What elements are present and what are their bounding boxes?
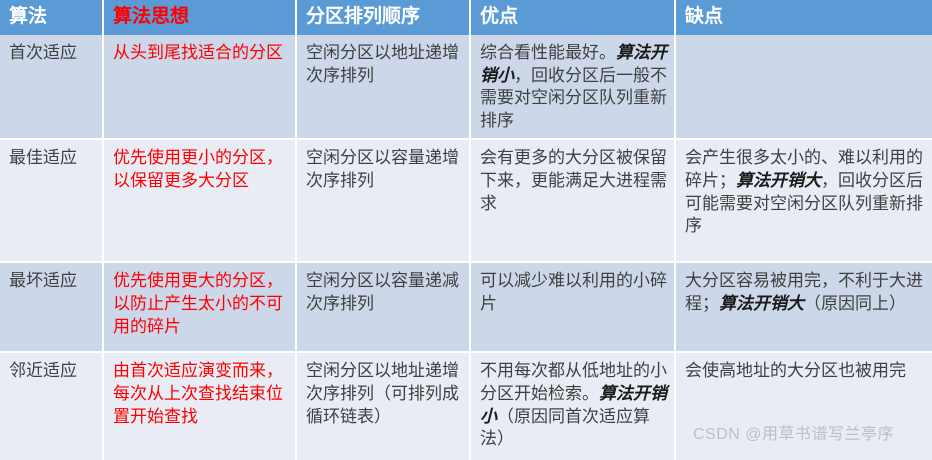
advantages-text-pre: 综合看性能最好。 (480, 43, 616, 62)
cell-algorithm: 首次适应 (0, 35, 103, 139)
cell-algorithm-idea: 优先使用更大的分区，以防止产生太小的不可用的碎片 (103, 262, 296, 352)
advantages-text-pre: 会有更多的大分区被保留下来，更能满足大进程需求 (480, 148, 667, 212)
column-header-algorithm-idea: 算法思想 (103, 0, 296, 35)
cell-algorithm-idea: 由首次适应演变而来，每次从上次查找结束位置开始查找 (103, 352, 296, 460)
advantages-text-post: （原因同首次适应算法） (480, 407, 650, 449)
column-header-partition-order: 分区排列顺序 (296, 0, 470, 35)
disadvantages-emphasis: 算法开销大 (719, 294, 804, 313)
cell-partition-order: 空闲分区以地址递增次序排列 (296, 35, 470, 139)
cell-advantages: 不用每次都从低地址的小分区开始检索。算法开销小（原因同首次适应算法） (470, 352, 675, 460)
disadvantages-text-pre: 会使高地址的大分区也被用完 (685, 361, 906, 380)
advantages-text-pre: 可以减少难以利用的小碎片 (480, 271, 667, 313)
cell-disadvantages: 大分区容易被用完，不利于大进程；算法开销大（原因同上） (675, 262, 932, 352)
algorithm-comparison-table: 算法 算法思想 分区排列顺序 优点 缺点 首次适应 从头到尾找适合的分区 空闲分… (0, 0, 932, 460)
cell-partition-order: 空闲分区以容量递减次序排列 (296, 262, 470, 352)
table-body: 首次适应 从头到尾找适合的分区 空闲分区以地址递增次序排列 综合看性能最好。算法… (0, 35, 932, 460)
table-row: 邻近适应 由首次适应演变而来，每次从上次查找结束位置开始查找 空闲分区以地址递增… (0, 352, 932, 460)
cell-advantages: 可以减少难以利用的小碎片 (470, 262, 675, 352)
cell-advantages: 会有更多的大分区被保留下来，更能满足大进程需求 (470, 139, 675, 262)
disadvantages-text-post: （原因同上） (804, 294, 906, 313)
table-row: 最坏适应 优先使用更大的分区，以防止产生太小的不可用的碎片 空闲分区以容量递减次… (0, 262, 932, 352)
cell-algorithm: 邻近适应 (0, 352, 103, 460)
cell-disadvantages (675, 35, 932, 139)
cell-disadvantages: 会使高地址的大分区也被用完 (675, 352, 932, 460)
cell-disadvantages: 会产生很多太小的、难以利用的碎片；算法开销大，回收分区后可能需要对空闲分区队列重… (675, 139, 932, 262)
column-header-algorithm: 算法 (0, 0, 103, 35)
cell-partition-order: 空闲分区以容量递增次序排列 (296, 139, 470, 262)
column-header-advantages: 优点 (470, 0, 675, 35)
table-row: 最佳适应 优先使用更小的分区，以保留更多大分区 空闲分区以容量递增次序排列 会有… (0, 139, 932, 262)
table-row: 首次适应 从头到尾找适合的分区 空闲分区以地址递增次序排列 综合看性能最好。算法… (0, 35, 932, 139)
table-header: 算法 算法思想 分区排列顺序 优点 缺点 (0, 0, 932, 35)
cell-algorithm: 最佳适应 (0, 139, 103, 262)
cell-partition-order: 空闲分区以地址递增次序排列（可排列成循环链表） (296, 352, 470, 460)
cell-algorithm-idea: 优先使用更小的分区，以保留更多大分区 (103, 139, 296, 262)
cell-advantages: 综合看性能最好。算法开销小，回收分区后一般不需要对空闲分区队列重新排序 (470, 35, 675, 139)
table-header-row: 算法 算法思想 分区排列顺序 优点 缺点 (0, 0, 932, 35)
disadvantages-emphasis: 算法开销大 (736, 171, 821, 190)
cell-algorithm: 最坏适应 (0, 262, 103, 352)
column-header-disadvantages: 缺点 (675, 0, 932, 35)
cell-algorithm-idea: 从头到尾找适合的分区 (103, 35, 296, 139)
